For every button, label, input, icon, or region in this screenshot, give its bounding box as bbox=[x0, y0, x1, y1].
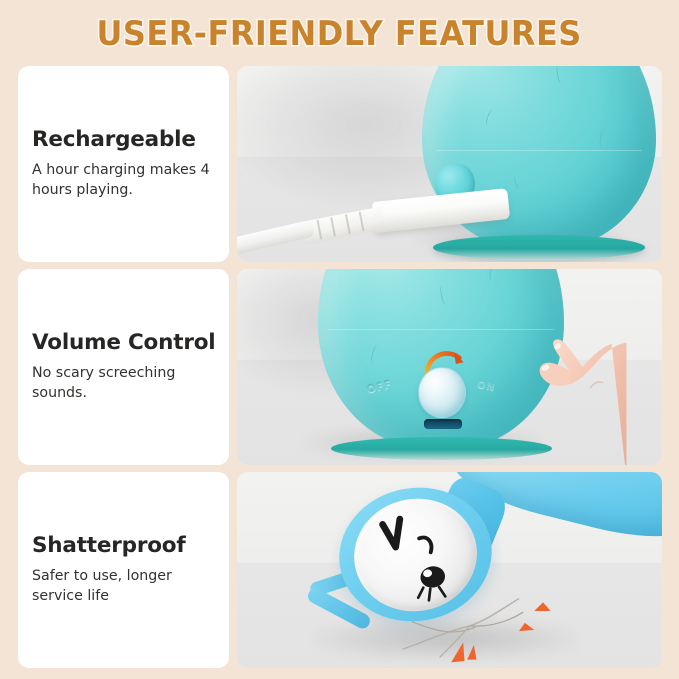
feature-grid: Rechargeable A hour charging makes 4 hou… bbox=[18, 66, 662, 668]
toy-base-ring bbox=[433, 235, 646, 260]
impact-mark-icon bbox=[420, 637, 505, 668]
feature-body: Safer to use, longer service life bbox=[32, 566, 210, 606]
volume-knob[interactable] bbox=[418, 367, 466, 418]
feature-photo-rechargeable bbox=[237, 66, 662, 262]
feature-heading: Rechargeable bbox=[32, 128, 216, 152]
photo-scene-charging bbox=[237, 66, 662, 262]
feature-text-card-rechargeable: Rechargeable A hour charging makes 4 hou… bbox=[18, 66, 229, 262]
feature-text-card-shatterproof: Shatterproof Safer to use, longer servic… bbox=[18, 472, 229, 668]
feature-text-card-volume-control: Volume Control No scary screeching sound… bbox=[18, 269, 229, 465]
page-title-bar: USER-FRIENDLY FEATURES bbox=[0, 14, 679, 54]
feature-page: USER-FRIENDLY FEATURES Rechargeable A ho… bbox=[0, 0, 679, 679]
feature-body: A hour charging makes 4 hours playing. bbox=[32, 160, 210, 200]
feature-heading: Shatterproof bbox=[32, 534, 216, 558]
feature-photo-shatterproof bbox=[237, 472, 662, 668]
photo-scene-volume: OFF ON bbox=[237, 269, 662, 465]
speaker-slot bbox=[424, 419, 462, 429]
feature-heading: Volume Control bbox=[32, 331, 216, 355]
photo-scene-drop-test bbox=[237, 472, 662, 668]
feature-body: No scary screeching sounds. bbox=[32, 363, 210, 403]
page-title: USER-FRIENDLY FEATURES bbox=[97, 14, 582, 54]
feature-photo-volume-control: OFF ON bbox=[237, 269, 662, 465]
hand-icon bbox=[484, 338, 663, 465]
